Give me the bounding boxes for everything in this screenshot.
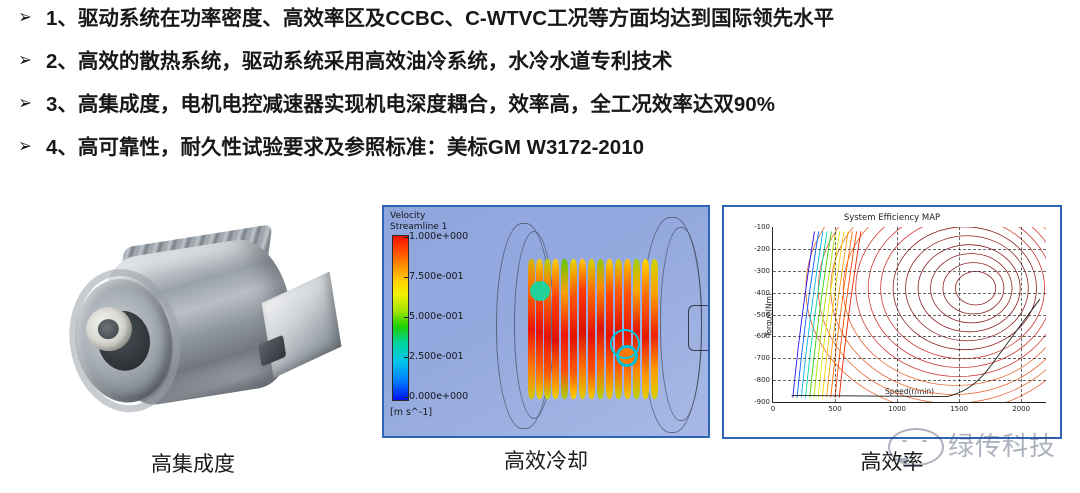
cfd-streamlines	[528, 259, 664, 399]
chart-ytick: -200	[754, 245, 770, 253]
figure-caption: 高集成度	[18, 448, 368, 478]
cfd-model-wireframe	[492, 213, 710, 437]
list-item: ➢ 1、驱动系统在功率密度、高效率区及CCBC、C-WTVC工况等方面均达到国际…	[0, 4, 1080, 47]
chart-ytick: -900	[754, 398, 770, 406]
chart-ytick: -700	[754, 354, 770, 362]
chart-ytick: -500	[754, 311, 770, 319]
cfd-colorbar	[392, 235, 409, 401]
cfd-legend-tick: 7.500e-001	[409, 271, 464, 282]
chart-gridline	[773, 380, 1046, 381]
cfd-image: Velocity Streamline 1 1.000e+000 7.500e-…	[382, 205, 710, 438]
chart-gridline	[773, 293, 1046, 294]
chart-gridline	[773, 336, 1046, 337]
figure-efficiency-map: System Efficiency MAP Torque(Nm) Speed(r…	[722, 205, 1062, 439]
figure-motor-render: 高集成度	[18, 205, 368, 440]
bullet-text: 4、高可靠性，耐久性试验要求及参照标准：美标GM W3172-2010	[46, 133, 644, 162]
cfd-legend: Velocity Streamline 1 1.000e+000 7.500e-…	[390, 211, 506, 401]
contour-line	[955, 272, 995, 305]
motor-3d-illustration	[46, 212, 351, 434]
contour-line	[918, 245, 1020, 332]
list-item: ➢ 2、高效的散热系统，驱动系统采用高效油冷系统，水冷水道专利技术	[0, 47, 1080, 90]
bullet-text: 2、高效的散热系统，驱动系统采用高效油冷系统，水冷水道专利技术	[46, 47, 672, 76]
chart-gridline	[1021, 227, 1022, 402]
figure-row: 高集成度 Velocity Streamline 1 1.000e+000 7.…	[0, 205, 1080, 493]
cfd-legend-tick: 1.000e+000	[409, 231, 468, 242]
chart-ytick: -600	[754, 332, 770, 340]
chart-xtick: 0	[771, 405, 775, 413]
chart-gridline	[959, 227, 960, 402]
motor-render-image	[18, 205, 368, 440]
cfd-legend-tick: 5.000e-001	[409, 311, 464, 322]
chart-xtick: 1500	[950, 405, 968, 413]
chart-xtick: 2000	[1012, 405, 1030, 413]
chart-gridline	[773, 271, 1046, 272]
arrow-bullet-icon: ➢	[18, 133, 44, 161]
efficiency-map-image: System Efficiency MAP Torque(Nm) Speed(r…	[722, 205, 1062, 439]
cfd-legend-tick: 0.000e+000	[409, 391, 468, 402]
chart-plot-area: Torque(Nm) Speed(r/min) -100-200-300-400…	[772, 227, 1046, 403]
contour-line	[831, 227, 1046, 394]
chart-ytick: -800	[754, 376, 770, 384]
arrow-bullet-icon: ➢	[18, 47, 44, 75]
chart-xtick: 1000	[888, 405, 906, 413]
list-item: ➢ 3、高集成度，电机电控减速器实现机电深度耦合，效率高，全工况效率达双90%	[0, 90, 1080, 133]
chart-gridline	[773, 315, 1046, 316]
chart-gridline	[897, 227, 898, 402]
bullet-text: 3、高集成度，电机电控减速器实现机电深度耦合，效率高，全工况效率达双90%	[46, 90, 775, 119]
chart-ytick: -400	[754, 289, 770, 297]
chart-gridline	[773, 358, 1046, 359]
chart-title: System Efficiency MAP	[724, 213, 1060, 223]
contour-line	[906, 236, 1029, 341]
bullet-list: ➢ 1、驱动系统在功率密度、高效率区及CCBC、C-WTVC工况等方面均达到国际…	[0, 0, 1080, 176]
figure-caption: 高效冷却	[382, 445, 710, 475]
chart-xtick: 500	[828, 405, 841, 413]
cfd-legend-title: Velocity	[390, 211, 506, 222]
figure-cfd-streamlines: Velocity Streamline 1 1.000e+000 7.500e-…	[382, 205, 710, 438]
cfd-legend-tick: 2.500e-001	[409, 351, 464, 362]
chart-ytick: -100	[754, 223, 770, 231]
chart-ytick: -300	[754, 267, 770, 275]
figure-caption: 高效率	[722, 446, 1062, 476]
arrow-bullet-icon: ➢	[18, 90, 44, 118]
cfd-legend-body: 1.000e+000 7.500e-001 5.000e-001 2.500e-…	[390, 235, 506, 401]
chart-gridline	[773, 249, 1046, 250]
arrow-bullet-icon: ➢	[18, 4, 44, 32]
list-item: ➢ 4、高可靠性，耐久性试验要求及参照标准：美标GM W3172-2010	[0, 133, 1080, 176]
chart-gridline	[835, 227, 836, 402]
cfd-legend-unit: [m s^-1]	[390, 407, 432, 418]
bullet-text: 1、驱动系统在功率密度、高效率区及CCBC、C-WTVC工况等方面均达到国际领先…	[46, 4, 834, 33]
